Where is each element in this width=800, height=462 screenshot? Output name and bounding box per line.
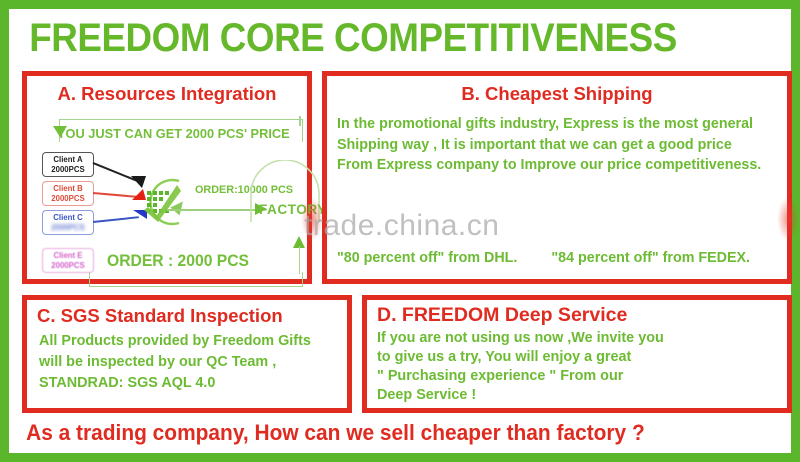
bracket-top-connector bbox=[299, 116, 301, 126]
body-line: Shipping way , It is important that we c… bbox=[337, 135, 787, 156]
panel-a-title: A. Resources Integration bbox=[27, 83, 307, 105]
body-line: will be inspected by our QC Team , bbox=[39, 352, 347, 373]
body-line: From Express company to Improve our pric… bbox=[337, 155, 787, 176]
footer-bar: As a trading company, How can we sell ch… bbox=[9, 413, 791, 453]
client-box: Client A 2000PCS bbox=[42, 152, 94, 177]
panel-resources-integration: A. Resources Integration YOU JUST CAN GE… bbox=[22, 71, 312, 284]
order-2000-label: ORDER : 2000 PCS bbox=[107, 252, 249, 271]
panel-c-body: All Products provided by Freedom Gifts w… bbox=[39, 331, 347, 394]
poster-root: FREEDOM CORE COMPETITIVENESS A. Resource… bbox=[0, 0, 800, 462]
bracket-bottom-connector bbox=[299, 246, 301, 274]
offer-fedex: "84 percent off" from FEDEX. bbox=[551, 248, 750, 269]
client-box: Client E 2000PCS bbox=[42, 248, 94, 273]
factory-label: FACTORY bbox=[259, 202, 327, 217]
bracket-bottom bbox=[89, 272, 303, 287]
get-price-label: YOU JUST CAN GET 2000 PCS' PRICE bbox=[57, 126, 290, 141]
body-line: If you are not using us now ,We invite y… bbox=[377, 329, 787, 348]
connector-line bbox=[93, 216, 139, 222]
panel-deep-service: D. FREEDOM Deep Service If you are not u… bbox=[362, 295, 792, 413]
footer-tagline: As a trading company, How can we sell ch… bbox=[9, 420, 645, 446]
panel-c-title: C. SGS Standard Inspection bbox=[37, 305, 347, 327]
client-box: Client B 2000PCS bbox=[42, 181, 94, 206]
panel-b-offers: "80 percent off" from DHL. "84 percent o… bbox=[337, 248, 750, 269]
flow-line bbox=[167, 209, 257, 211]
panel-d-body: If you are not using us now ,We invite y… bbox=[377, 329, 787, 405]
client-box: Client C 2000PCS bbox=[42, 210, 94, 235]
page-title: FREEDOM CORE COMPETITIVENESS bbox=[9, 16, 677, 61]
panel-sgs-inspection: C. SGS Standard Inspection All Products … bbox=[22, 295, 352, 413]
panel-cheapest-shipping: B. Cheapest Shipping In the promotional … bbox=[322, 71, 792, 284]
panel-b-title: B. Cheapest Shipping bbox=[327, 83, 787, 105]
body-line: Deep Service ! bbox=[377, 386, 787, 405]
offer-dhl: "80 percent off" from DHL. bbox=[337, 248, 517, 269]
body-line: to give us a try, You will enjoy a great bbox=[377, 348, 787, 367]
body-line: " Purchasing experience " From our bbox=[377, 367, 787, 386]
body-line: In the promotional gifts industry, Expre… bbox=[337, 114, 787, 135]
body-line: All Products provided by Freedom Gifts bbox=[39, 331, 347, 352]
title-bar: FREEDOM CORE COMPETITIVENESS bbox=[9, 9, 791, 67]
body-line: STANDRAD: SGS AQL 4.0 bbox=[39, 373, 347, 394]
panel-d-title: D. FREEDOM Deep Service bbox=[377, 304, 787, 327]
panel-b-body: In the promotional gifts industry, Expre… bbox=[337, 114, 787, 176]
